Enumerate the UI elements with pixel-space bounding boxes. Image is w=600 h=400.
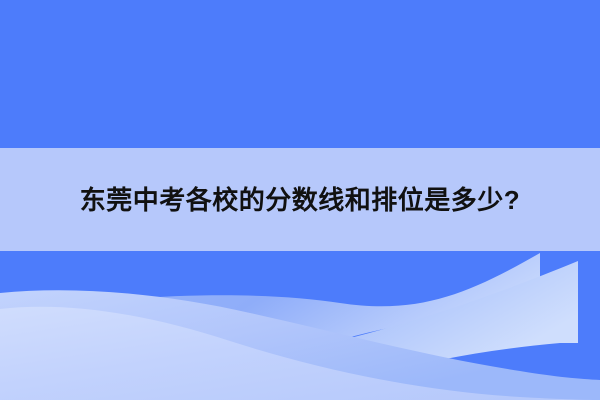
top-blue-band [0, 0, 600, 148]
decorative-wave-graphic [0, 251, 600, 400]
page-title: 东莞中考各校的分数线和排位是多少? [80, 187, 520, 213]
headline-band: 东莞中考各校的分数线和排位是多少? [0, 148, 600, 251]
poster-canvas: 东莞中考各校的分数线和排位是多少? [0, 0, 600, 400]
wave-svg [0, 251, 600, 400]
